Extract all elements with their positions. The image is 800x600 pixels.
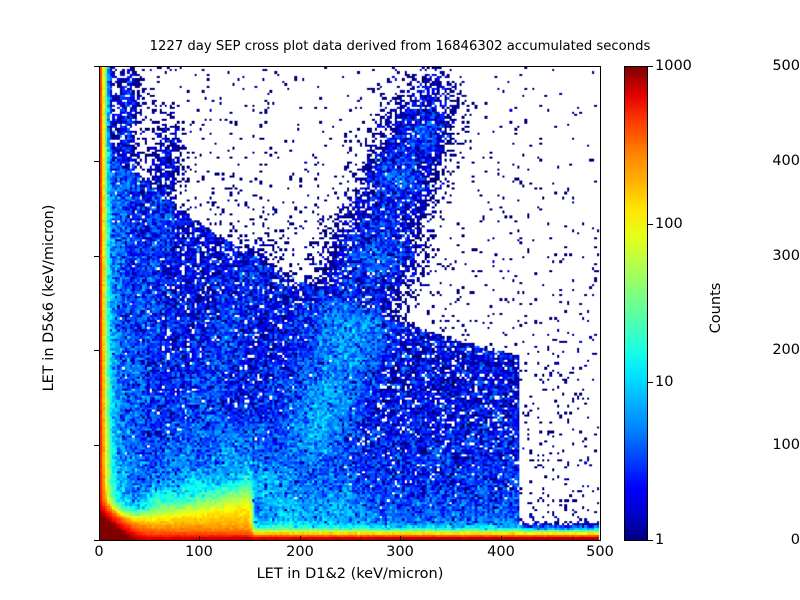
colorbar-ticklabel-1: 1 xyxy=(655,533,664,548)
x-ticklabel-500: 500 xyxy=(560,545,640,560)
y-tick-200 xyxy=(94,350,99,351)
x-ticklabel-0: 0 xyxy=(59,545,139,560)
y-ticklabel-500: 500 xyxy=(712,59,800,74)
y-ticklabel-300: 300 xyxy=(712,249,800,264)
colorbar-ticklabel-100: 100 xyxy=(655,217,683,232)
x-tick-100 xyxy=(199,536,200,541)
y-ticklabel-400: 400 xyxy=(712,154,800,169)
plot-title-line-1: 1227 day SEP cross plot data derived fro… xyxy=(0,39,800,56)
y-tick-400 xyxy=(94,161,99,162)
colorbar-label: Counts xyxy=(708,228,724,388)
x-ticklabel-200: 200 xyxy=(260,545,340,560)
figure-canvas: 1227 day SEP cross plot data derived fro… xyxy=(0,0,800,600)
x-ticklabel-300: 300 xyxy=(360,545,440,560)
y-tick-500 xyxy=(94,66,99,67)
colorbar-ticklabel-10: 10 xyxy=(655,375,673,390)
colorbar xyxy=(624,66,648,541)
x-tick-300 xyxy=(400,536,401,541)
colorbar-ticklabel-1000: 1000 xyxy=(655,59,692,74)
colorbar-tick-10 xyxy=(648,382,653,383)
colorbar-tick-1 xyxy=(648,540,653,541)
density-heatmap xyxy=(100,67,600,540)
y-tick-100 xyxy=(94,445,99,446)
x-axis-label: LET in D1&2 (keV/micron) xyxy=(99,566,601,582)
y-axis-label: LET in D5&6 (keV/micron) xyxy=(41,133,57,463)
x-tick-0 xyxy=(99,536,100,541)
y-ticklabel-100: 100 xyxy=(712,438,800,453)
y-ticklabel-0: 0 xyxy=(712,533,800,548)
x-tick-500 xyxy=(600,536,601,541)
colorbar-tick-1000 xyxy=(648,66,653,67)
y-ticklabel-200: 200 xyxy=(712,343,800,358)
plot-axes xyxy=(99,66,601,541)
y-tick-300 xyxy=(94,256,99,257)
x-ticklabel-400: 400 xyxy=(461,545,541,560)
x-ticklabel-100: 100 xyxy=(159,545,239,560)
x-tick-200 xyxy=(300,536,301,541)
colorbar-tick-100 xyxy=(648,224,653,225)
x-tick-400 xyxy=(501,536,502,541)
